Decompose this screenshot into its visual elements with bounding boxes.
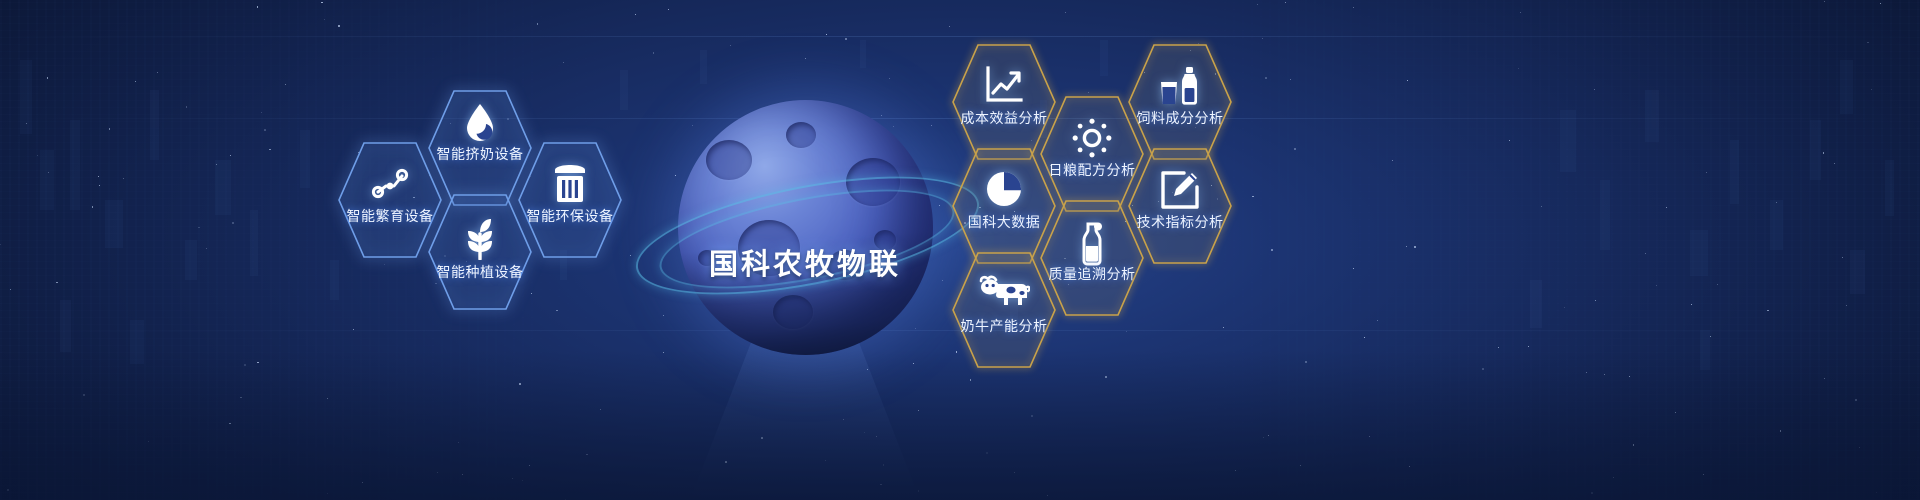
page-title: 国科农牧物联 [645, 241, 965, 283]
hero-banner: 国科农牧物联 智能繁育设备 智能挤奶设备 [0, 0, 1920, 500]
hex-cell-right_cluster-6[interactable]: 奶牛产能分析 [952, 252, 1056, 368]
center-planet-group: 国科农牧物联 [645, 60, 965, 360]
recycle-bin-icon [518, 164, 622, 204]
hex-cell-left_cluster-2[interactable]: 智能种植设备 [428, 194, 532, 310]
background-hline-top [0, 36, 1920, 37]
hex-cell-left_cluster-0[interactable]: 智能繁育设备 [338, 142, 442, 258]
bottom-vignette [0, 350, 1920, 500]
breeding-nodes-icon [338, 164, 442, 204]
milk-drop-icon [428, 102, 532, 142]
cow-icon [952, 274, 1056, 310]
hex-cell-left_cluster-3[interactable]: 智能环保设备 [518, 142, 622, 258]
plant-leaf-icon [428, 218, 532, 260]
hex-cell-left_cluster-1[interactable]: 智能挤奶设备 [428, 90, 532, 206]
